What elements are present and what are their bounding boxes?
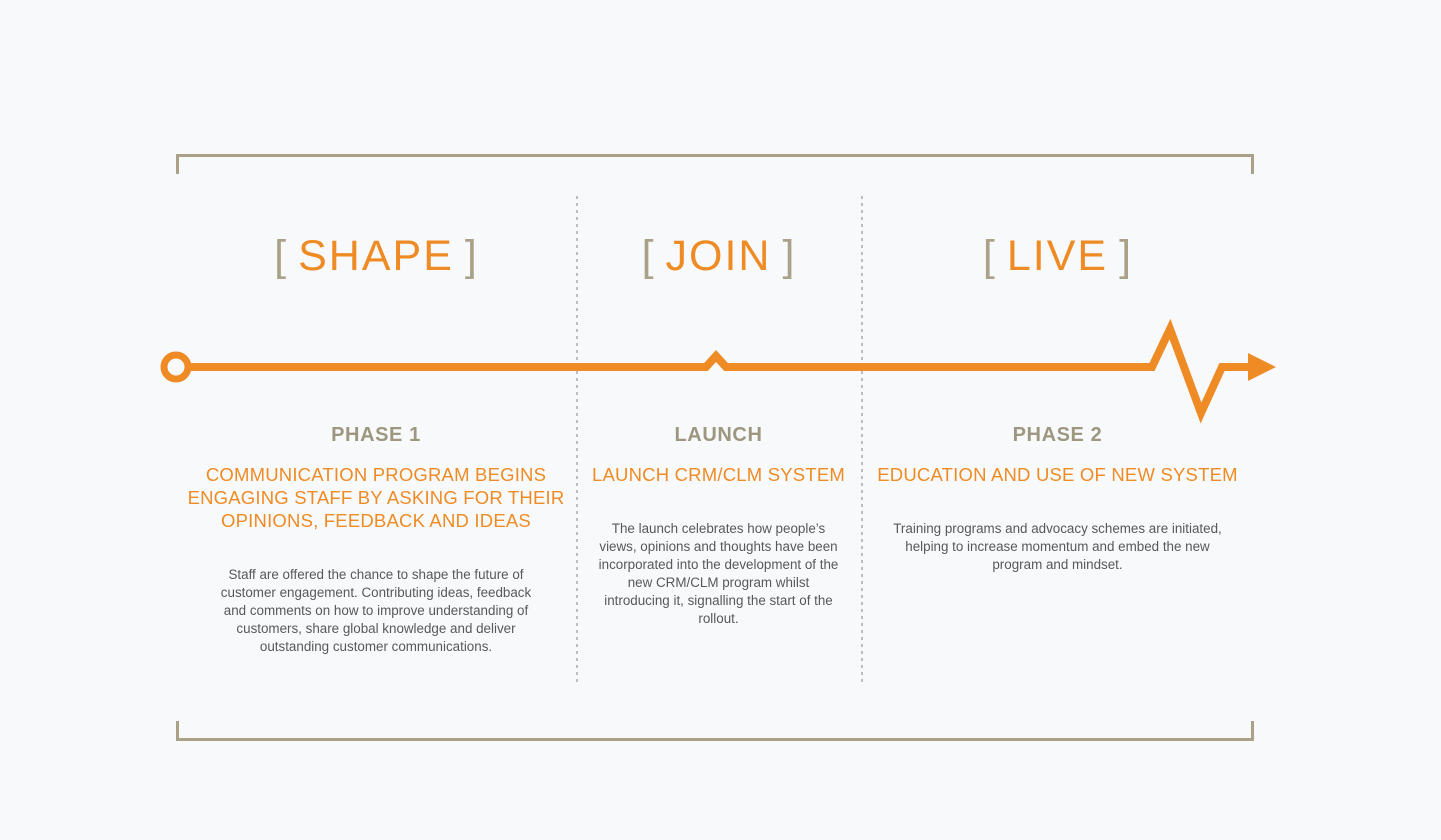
phase-subtitle-shape: COMMUNICATION PROGRAM BEGINS ENGAGING ST… xyxy=(176,463,576,532)
phase-column-live: [LIVE] PHASE 2 EDUCATION AND USE OF NEW … xyxy=(861,196,1254,696)
bottom-bracket-rail xyxy=(176,738,1254,741)
phase-description-shape: Staff are offered the chance to shape th… xyxy=(176,566,576,656)
phase-column-join: [JOIN] LAUNCH LAUNCH CRM/CLM SYSTEM The … xyxy=(576,196,861,696)
phase-subtitle-live: EDUCATION AND USE OF NEW SYSTEM xyxy=(861,463,1254,486)
bracket-open-live: [ xyxy=(983,232,996,280)
phase-label-live: PHASE 2 xyxy=(861,424,1254,447)
top-bracket-left-tick xyxy=(176,154,179,174)
phase-body-shape: PHASE 1 COMMUNICATION PROGRAM BEGINS ENG… xyxy=(176,424,576,656)
phase-description-live: Training programs and advocacy schemes a… xyxy=(861,520,1254,574)
phase-subtitle-join: LAUNCH CRM/CLM SYSTEM xyxy=(576,463,861,486)
bracket-open-shape: [ xyxy=(274,232,287,280)
bracket-close-shape: ] xyxy=(465,232,478,280)
phase-header-word-live: LIVE xyxy=(1007,232,1108,280)
phase-header-shape: [SHAPE] xyxy=(176,232,576,281)
phase-body-join: LAUNCH LAUNCH CRM/CLM SYSTEM The launch … xyxy=(576,424,861,628)
bracket-open-join: [ xyxy=(642,232,655,280)
bottom-bracket-left-tick xyxy=(176,721,179,741)
bracket-close-join: ] xyxy=(782,232,795,280)
phase-header-word-shape: SHAPE xyxy=(298,232,454,280)
phase-description-join: The launch celebrates how people’s views… xyxy=(576,520,861,628)
phase-header-word-join: JOIN xyxy=(666,232,772,280)
phase-label-shape: PHASE 1 xyxy=(176,424,576,447)
top-bracket xyxy=(176,154,1254,174)
top-bracket-right-tick xyxy=(1251,154,1254,174)
phase-header-join: [JOIN] xyxy=(576,232,861,281)
phase-body-live: PHASE 2 EDUCATION AND USE OF NEW SYSTEM … xyxy=(861,424,1254,574)
phase-header-live: [LIVE] xyxy=(861,232,1254,281)
phase-columns: [SHAPE] PHASE 1 COMMUNICATION PROGRAM BE… xyxy=(176,196,1254,696)
bottom-bracket xyxy=(176,721,1254,741)
top-bracket-rail xyxy=(176,154,1254,157)
bottom-bracket-right-tick xyxy=(1251,721,1254,741)
phase-label-join: LAUNCH xyxy=(576,424,861,447)
infographic-canvas: [SHAPE] PHASE 1 COMMUNICATION PROGRAM BE… xyxy=(0,0,1441,840)
phase-column-shape: [SHAPE] PHASE 1 COMMUNICATION PROGRAM BE… xyxy=(176,196,576,696)
bracket-close-live: ] xyxy=(1119,232,1132,280)
